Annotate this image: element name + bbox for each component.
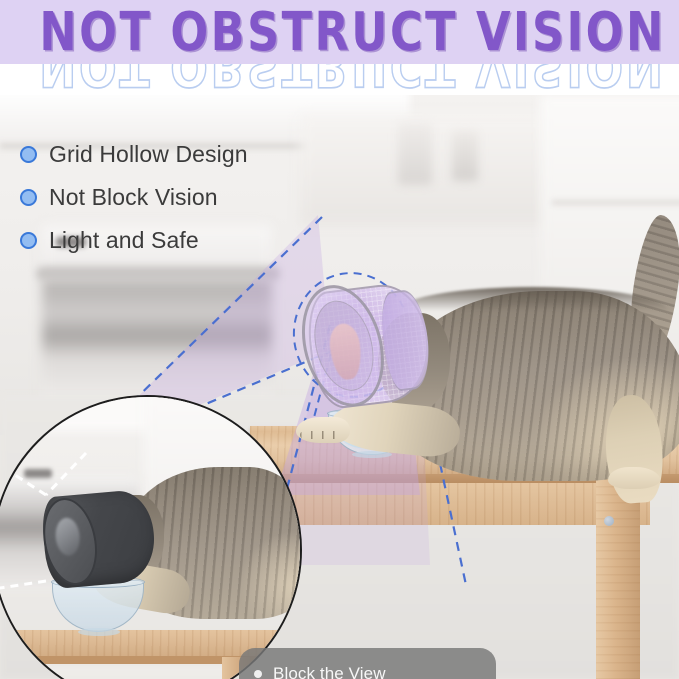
blocked-sight-line-upper [0,459,46,495]
feature-label: Light and Safe [49,227,199,254]
kitchen-jar [398,123,432,185]
feature-item: Grid Hollow Design [20,133,320,176]
table-screw [604,516,614,526]
comparison-inset-circle [0,395,302,679]
oven-handle [36,267,280,280]
mesh-recovery-cone-product [289,273,444,417]
ring-bullet-icon [20,232,37,249]
drawbacks-panel: Block the View Easy to Bump into Things … [239,648,496,679]
blocked-sight-line-lower [0,581,46,592]
feature-item: Light and Safe [20,219,320,262]
cat-front-paw [296,417,350,443]
blocked-vision-lines [0,397,302,679]
drawback-bullet-dot [254,670,262,678]
right-cabinet-seam [552,200,679,205]
cat-paw-toes [300,431,344,439]
page-title-reflection-text: NOT OBSTRUCT VISION [40,64,666,98]
main-photo: Block the View Easy to Bump into Things … [0,95,679,679]
feature-label: Grid Hollow Design [49,141,248,168]
ring-bullet-icon [20,189,37,206]
blocked-sight-line-upper-b [46,453,86,495]
page-title: NOT OBSTRUCT VISION [3,0,675,70]
feature-list: Grid Hollow Design Not Block Vision Ligh… [20,133,320,262]
page-title-reflection: NOT OBSTRUCT VISION [0,64,679,98]
feature-item: Not Block Vision [20,176,320,219]
product-infographic: Block the View Easy to Bump into Things … [0,0,679,679]
kitchen-jar-second [452,131,478,181]
feature-label: Not Block Vision [49,184,218,211]
cat-hind-paw [608,467,660,489]
drawback-label: Block the View [273,664,386,679]
ring-bullet-icon [20,146,37,163]
table-apron [250,483,650,525]
drawback-item: Block the View [239,659,496,679]
